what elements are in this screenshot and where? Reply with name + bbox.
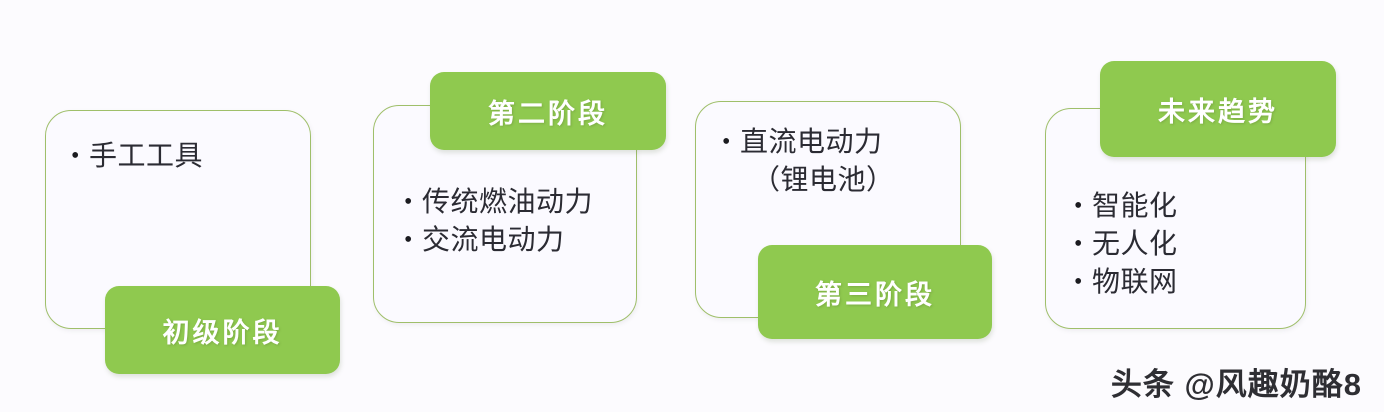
list-item: 手工工具 <box>71 138 335 176</box>
list-item: 传统燃油动力 <box>404 184 666 222</box>
list-item: 物联网 <box>1074 264 1333 302</box>
stage-card-3-content: 直流电动力 （锂电池） <box>722 124 986 200</box>
stage-chip-4[interactable]: 未来趋势 <box>1100 61 1336 157</box>
bullet-list-4: 智能化 无人化 物联网 <box>1074 188 1333 302</box>
stage-chip-1-label: 初级阶段 <box>163 311 283 350</box>
list-item: 智能化 <box>1074 188 1333 226</box>
list-item: 交流电动力 <box>404 222 666 260</box>
watermark-text: 头条 @风趣奶酪8 <box>1111 359 1362 404</box>
bullet-list-1: 手工工具 <box>71 138 335 176</box>
stage-chip-2[interactable]: 第二阶段 <box>430 72 666 150</box>
list-item-sub: （锂电池） <box>722 162 986 200</box>
stage-card-1-content: 手工工具 <box>71 138 335 176</box>
stage-chip-3[interactable]: 第三阶段 <box>758 245 992 339</box>
stage-chip-2-label: 第二阶段 <box>488 92 608 131</box>
diagram-canvas: 手工工具 初级阶段 传统燃油动力 交流电动力 第二阶段 直流电动力 （锂电池） … <box>0 0 1384 412</box>
bullet-list-3: 直流电动力 <box>722 124 986 162</box>
stage-card-2-content: 传统燃油动力 交流电动力 <box>404 184 666 260</box>
stage-chip-3-label: 第三阶段 <box>815 273 935 312</box>
stage-chip-4-label: 未来趋势 <box>1158 90 1278 129</box>
list-item: 直流电动力 <box>722 124 986 162</box>
bullet-list-2: 传统燃油动力 交流电动力 <box>404 184 666 260</box>
stage-card-4-content: 智能化 无人化 物联网 <box>1074 188 1333 302</box>
stage-chip-1[interactable]: 初级阶段 <box>105 286 340 374</box>
list-item: 无人化 <box>1074 226 1333 264</box>
